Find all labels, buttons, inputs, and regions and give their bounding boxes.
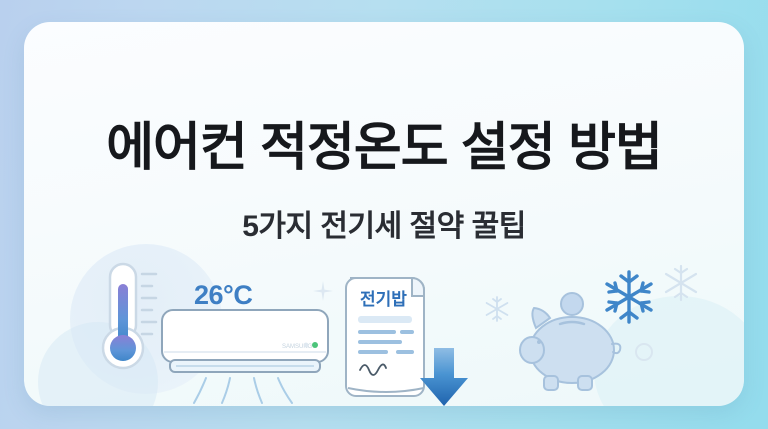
temperature-label: 26°C: [194, 280, 252, 311]
circle-outline-icon: [634, 342, 654, 367]
illustration-row: 26°C SAMSUNG: [24, 252, 744, 406]
snowflake-icon: [660, 262, 702, 304]
sparkle-icon: [312, 280, 334, 307]
electricity-bill-group: 전기밥: [334, 270, 474, 406]
infographic-canvas: 에어컨 적정온도 설정 방법 5가지 전기세 절약 꿀팁: [0, 0, 768, 429]
bill-heading: 전기밥: [360, 290, 407, 309]
arrow-down-icon: [416, 346, 472, 406]
air-conditioner-icon: SAMSUNG: [156, 308, 336, 406]
page-title: 에어컨 적정온도 설정 방법: [24, 118, 744, 178]
content-card: 에어컨 적정온도 설정 방법 5가지 전기세 절약 꿀팁: [24, 22, 744, 406]
air-conditioner-group: SAMSUNG: [156, 308, 336, 406]
snowflake-icon: [600, 268, 658, 326]
airflow-lines: [194, 378, 292, 403]
snowflake-small-group: [482, 294, 512, 329]
snowflake-icon: [482, 294, 512, 324]
snowflake-large-group: [600, 268, 658, 331]
snowflake-medium-group: [660, 262, 702, 309]
page-subtitle: 5가지 전기세 절약 꿀팁: [24, 208, 744, 246]
